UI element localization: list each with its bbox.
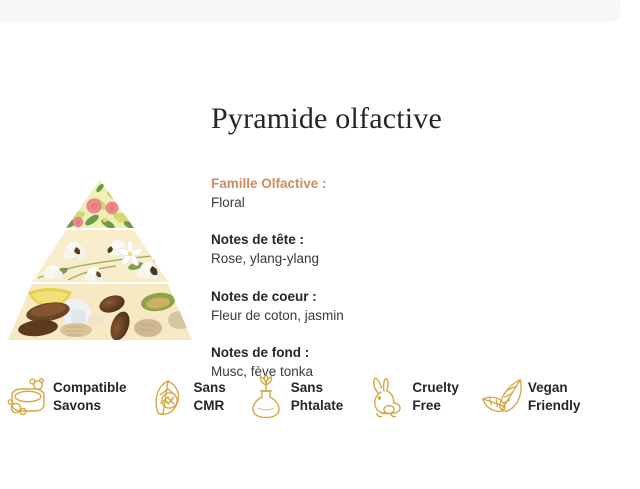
note-value: Fleur de coton, jasmin [211,306,611,325]
badge-label: Sans CMR [194,379,226,415]
badge-label-line2: Phtalate [291,398,344,413]
badge-label: Compatible Savons [53,379,127,415]
pyramid-details: Pyramide olfactive Famille Olfactive : F… [211,101,611,381]
badge-label: Vegan Friendly [528,379,581,415]
page-title: Pyramide olfactive [211,101,611,137]
pyramid-bottom-tier [8,282,192,340]
badge-label-line2: Free [412,398,441,413]
badge-sans-cmr: Sans CMR [147,374,226,420]
badge-label-line1: Cruelty [412,380,459,395]
note-value: Rose, ylang-ylang [211,249,611,268]
note-value: Floral [211,193,611,212]
note-label: Notes de fond : [211,343,611,362]
olfactive-pyramid-image [8,180,192,340]
leaves-icon [481,374,525,420]
flask-plant-icon [244,374,288,420]
note-label: Famille Olfactive : [211,174,611,193]
badge-label: Sans Phtalate [291,379,344,415]
badge-vegan-friendly: Vegan Friendly [481,374,581,420]
badge-label-line2: Savons [53,398,101,413]
note-notes-de-coeur: Notes de coeur : Fleur de coton, jasmin [211,287,611,325]
badge-label-line2: CMR [194,398,225,413]
badge-sans-phtalate: Sans Phtalate [244,374,344,420]
badge-label: Cruelty Free [412,379,459,415]
leaf-check-icon [147,374,191,420]
note-famille-olfactive: Famille Olfactive : Floral [211,174,611,212]
badge-label-line1: Sans [291,380,323,395]
badge-label-line1: Vegan [528,380,568,395]
product-claims-row: Compatible Savons Sans CMR [0,371,640,423]
badge-compatible-savons: Compatible Savons [6,374,127,420]
badge-cruelty-free: Cruelty Free [365,374,459,420]
rabbit-icon [365,374,409,420]
pyramid-top-tier [8,180,192,231]
top-bar [0,0,620,22]
soap-bar-icon [6,374,50,420]
badge-label-line1: Sans [194,380,226,395]
badge-label-line2: Friendly [528,398,581,413]
note-label: Notes de tête : [211,230,611,249]
note-notes-de-tete: Notes de tête : Rose, ylang-ylang [211,230,611,268]
badge-label-line1: Compatible [53,380,127,395]
note-label: Notes de coeur : [211,287,611,306]
pyramid-middle-tier [8,228,192,284]
